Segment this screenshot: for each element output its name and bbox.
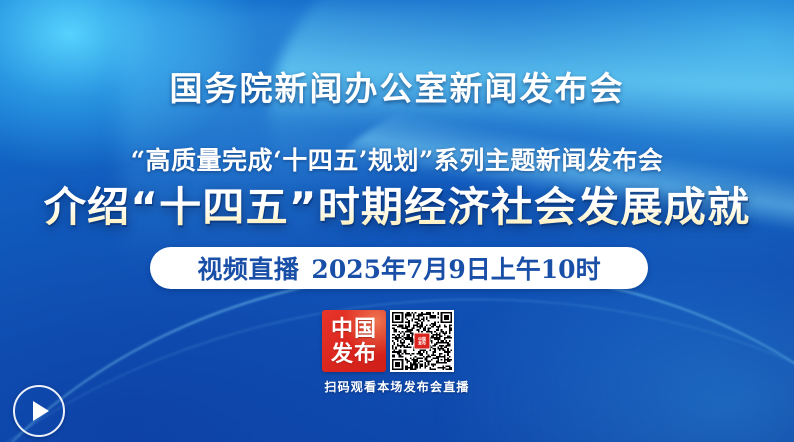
qr-logo-block: 中国 发布 中国 发布 (322, 310, 454, 372)
logo-line-2: 发布 (331, 343, 377, 365)
play-button[interactable] (13, 385, 65, 437)
poster-content: 国务院新闻办公室新闻发布会 “高质量完成‘十四五’规划”系列主题新闻发布会 介绍… (0, 0, 794, 442)
broadcast-poster: 国务院新闻办公室新闻发布会 “高质量完成‘十四五’规划”系列主题新闻发布会 介绍… (0, 0, 794, 442)
scan-caption: 扫码观看本场发布会直播 (0, 378, 794, 395)
china-release-logo: 中国 发布 (322, 310, 386, 372)
logo-line-1: 中国 (331, 318, 377, 340)
series-subtitle: “高质量完成‘十四五’规划”系列主题新闻发布会 (0, 141, 794, 177)
play-icon (33, 401, 49, 421)
live-badge-label: 视频直播 (197, 250, 299, 286)
page-title: 国务院新闻办公室新闻发布会 (0, 62, 794, 110)
qr-center-line-2: 发布 (418, 341, 426, 345)
qr-code[interactable]: 中国 发布 (390, 310, 454, 372)
live-schedule-badge[interactable]: 视频直播 2025年7月9日上午10时 (150, 247, 648, 289)
qr-center-logo: 中国 发布 (414, 333, 431, 350)
live-badge-date: 2025年7月9日上午10时 (311, 250, 600, 286)
headline-container: 介绍“十四五”时期经济社会发展成就 (0, 181, 794, 233)
main-headline: 介绍“十四五”时期经济社会发展成就 (44, 181, 750, 233)
